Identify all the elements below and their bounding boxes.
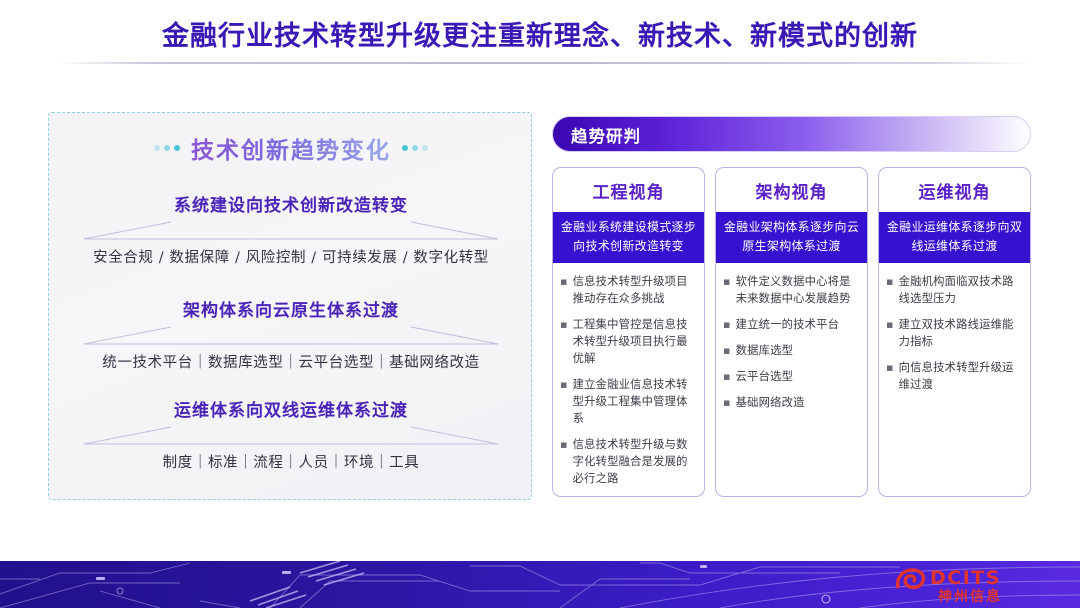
list-item: ▪云平台选型 xyxy=(723,368,858,385)
trend-change-panel: 技术创新趋势变化 系统建设向技术创新改造转变 安全合规 / 数据保障 / 风险控… xyxy=(48,112,532,500)
list-item: ▪信息技术转型升级项目推动存在众多挑战 xyxy=(560,273,695,307)
bullet-text: 建立双技术路线运维能力指标 xyxy=(899,316,1021,350)
bullet-dot-icon: ▪ xyxy=(560,316,568,367)
bullet-text: 建立金融业信息技术转型升级工程集中管理体系 xyxy=(573,376,695,427)
card-bullet-list: ▪金融机构面临双技术路线选型压力 ▪建立双技术路线运维能力指标 ▪向信息技术转型… xyxy=(879,263,1030,402)
card-bullet-list: ▪软件定义数据中心将是未来数据中心发展趋势 ▪建立统一的技术平台 ▪数据库选型 … xyxy=(716,263,867,420)
bullet-dot-icon: ▪ xyxy=(723,273,731,307)
list-item: ▪数据库选型 xyxy=(723,342,858,359)
list-item: ▪软件定义数据中心将是未来数据中心发展趋势 xyxy=(723,273,858,307)
card-bullet-list: ▪信息技术转型升级项目推动存在众多挑战 ▪工程集中管控是信息技术转型升级项目执行… xyxy=(553,263,704,496)
slide-root: 金融行业技术转型升级更注重新理念、新技术、新模式的创新 技术创新趋势变化 系统建… xyxy=(0,0,1080,608)
bullet-dot-icon: ▪ xyxy=(723,316,731,333)
decorative-dots-left-icon xyxy=(154,145,180,151)
funnel-divider-2-icon xyxy=(76,326,506,348)
trend-judgement-banner: 趋势研判 xyxy=(552,116,1031,152)
perspective-card-architecture[interactable]: 架构视角 金融业架构体系逐步向云原生架构体系过渡 ▪软件定义数据中心将是未来数据… xyxy=(715,167,868,497)
funnel-divider-1-icon xyxy=(76,221,506,243)
page-title: 金融行业技术转型升级更注重新理念、新技术、新模式的创新 xyxy=(0,14,1080,53)
trend-block-3: 运维体系向双线运维体系过渡 制度｜标准｜流程｜人员｜环境｜工具 xyxy=(49,396,533,472)
dcits-swirl-icon xyxy=(894,565,928,593)
bullet-text: 信息技术转型升级与数字化转型融合是发展的必行之路 xyxy=(573,436,695,487)
bullet-text: 向信息技术转型升级运维过渡 xyxy=(899,359,1021,393)
card-title: 架构视角 xyxy=(716,168,867,212)
perspective-card-engineering[interactable]: 工程视角 金融业系统建设模式逐步向技术创新改造转变 ▪信息技术转型升级项目推动存… xyxy=(552,167,705,497)
trend-block-1-items: 安全合规 / 数据保障 / 风险控制 / 可持续发展 / 数字化转型 xyxy=(49,246,533,267)
trend-block-2-heading: 架构体系向云原生体系过渡 xyxy=(49,296,533,321)
list-item: ▪建立双技术路线运维能力指标 xyxy=(886,316,1021,350)
bullet-text: 金融机构面临双技术路线选型压力 xyxy=(899,273,1021,307)
bullet-dot-icon: ▪ xyxy=(886,316,894,350)
list-item: ▪建立统一的技术平台 xyxy=(723,316,858,333)
page-title-wrap: 金融行业技术转型升级更注重新理念、新技术、新模式的创新 xyxy=(0,14,1080,53)
bullet-text: 软件定义数据中心将是未来数据中心发展趋势 xyxy=(736,273,858,307)
trend-change-heading: 技术创新趋势变化 xyxy=(191,131,391,165)
title-divider xyxy=(56,62,1032,64)
bullet-dot-icon: ▪ xyxy=(723,394,731,411)
bullet-text: 基础网络改造 xyxy=(736,394,858,411)
card-title: 运维视角 xyxy=(879,168,1030,212)
list-item: ▪向信息技术转型升级运维过渡 xyxy=(886,359,1021,393)
bullet-text: 工程集中管控是信息技术转型升级项目执行最优解 xyxy=(573,316,695,367)
card-subtitle-band: 金融业架构体系逐步向云原生架构体系过渡 xyxy=(716,212,867,263)
list-item: ▪建立金融业信息技术转型升级工程集中管理体系 xyxy=(560,376,695,427)
decorative-dots-right-icon xyxy=(402,145,428,151)
bullet-dot-icon: ▪ xyxy=(886,359,894,393)
bullet-dot-icon: ▪ xyxy=(723,368,731,385)
trend-block-3-items: 制度｜标准｜流程｜人员｜环境｜工具 xyxy=(49,451,533,472)
trend-block-3-heading: 运维体系向双线运维体系过渡 xyxy=(49,396,533,421)
perspective-card-operations[interactable]: 运维视角 金融业运维体系逐步向双线运维体系过渡 ▪金融机构面临双技术路线选型压力… xyxy=(878,167,1031,497)
bullet-dot-icon: ▪ xyxy=(560,436,568,487)
perspective-card-list: 工程视角 金融业系统建设模式逐步向技术创新改造转变 ▪信息技术转型升级项目推动存… xyxy=(552,167,1032,497)
card-subtitle-band: 金融业系统建设模式逐步向技术创新改造转变 xyxy=(553,212,704,263)
company-logo: DCITS 神州信息 xyxy=(894,565,1064,605)
trend-block-2: 架构体系向云原生体系过渡 统一技术平台｜数据库选型｜云平台选型｜基础网络改造 xyxy=(49,296,533,372)
trend-change-heading-row: 技术创新趋势变化 xyxy=(49,131,533,165)
bullet-dot-icon: ▪ xyxy=(560,376,568,427)
list-item: ▪金融机构面临双技术路线选型压力 xyxy=(886,273,1021,307)
bullet-dot-icon: ▪ xyxy=(723,342,731,359)
card-title: 工程视角 xyxy=(553,168,704,212)
bullet-dot-icon: ▪ xyxy=(560,273,568,307)
list-item: ▪工程集中管控是信息技术转型升级项目执行最优解 xyxy=(560,316,695,367)
bullet-text: 数据库选型 xyxy=(736,342,858,359)
list-item: ▪信息技术转型升级与数字化转型融合是发展的必行之路 xyxy=(560,436,695,487)
logo-text-cn: 神州信息 xyxy=(938,586,1002,606)
bullet-text: 建立统一的技术平台 xyxy=(736,316,858,333)
trend-block-1: 系统建设向技术创新改造转变 安全合规 / 数据保障 / 风险控制 / 可持续发展… xyxy=(49,191,533,267)
card-subtitle-band: 金融业运维体系逐步向双线运维体系过渡 xyxy=(879,212,1030,263)
funnel-divider-3-icon xyxy=(76,426,506,448)
bullet-text: 信息技术转型升级项目推动存在众多挑战 xyxy=(573,273,695,307)
bullet-dot-icon: ▪ xyxy=(886,273,894,307)
trend-block-2-items: 统一技术平台｜数据库选型｜云平台选型｜基础网络改造 xyxy=(49,351,533,372)
trend-judgement-banner-label: 趋势研判 xyxy=(571,117,641,153)
trend-block-1-heading: 系统建设向技术创新改造转变 xyxy=(49,191,533,216)
bullet-text: 云平台选型 xyxy=(736,368,858,385)
footer-bar: DCITS 神州信息 xyxy=(0,561,1080,608)
list-item: ▪基础网络改造 xyxy=(723,394,858,411)
